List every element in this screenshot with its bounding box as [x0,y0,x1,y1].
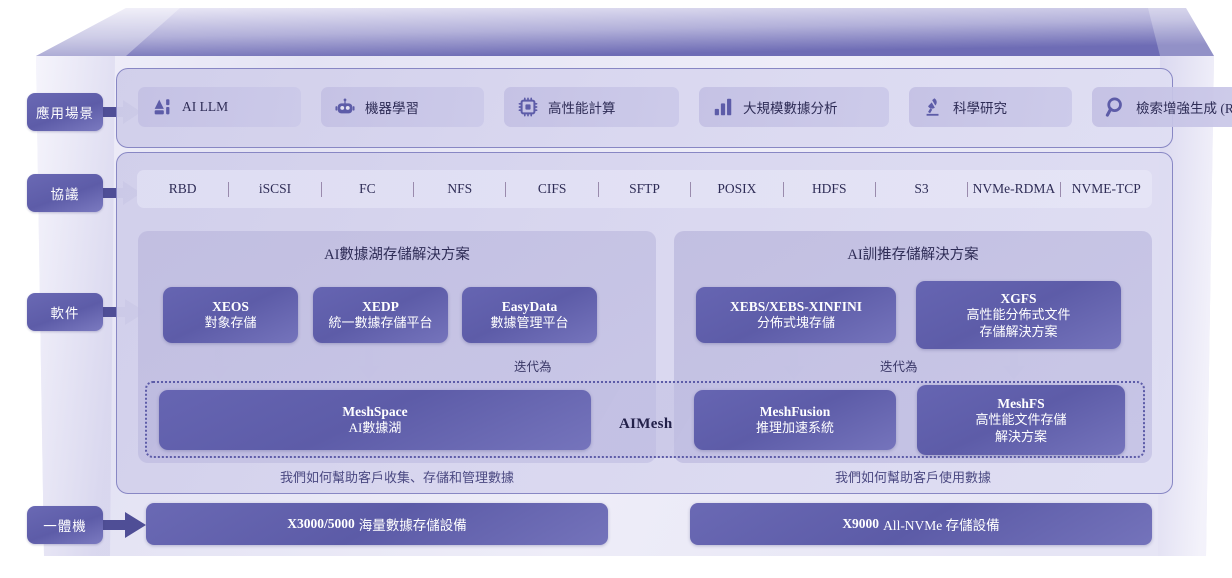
appliance-box-x3000[interactable]: X3000/5000 海量數據存儲設備 [146,503,608,545]
cpu-chip-icon [517,96,539,118]
scenario-label: 檢索增強生成 (RAG) [1136,97,1232,117]
iterate-label-left: 迭代為 [514,356,552,375]
product-name: MeshFusion [760,403,831,420]
scenario-label: AI LLM [182,99,228,115]
software-group-title: AI訓推存儲解決方案 [674,243,1152,264]
rail-item-scenarios[interactable]: 應用場景 [27,93,103,131]
architecture-diagram: 應用場景 協議 軟件 一體機 AI LLM [0,0,1232,578]
protocol-item: POSIX [691,181,782,197]
caption-right: 我們如何幫助客戶使用數據 [674,467,1152,486]
robot-icon [334,96,356,118]
scenario-chip-machine-learning[interactable]: 機器學習 [321,87,484,127]
rail-label-text: 應用場景 [36,102,94,122]
scenarios-panel: AI LLM 機器學習 [116,68,1173,148]
protocol-separator [783,182,784,197]
product-desc: 對象存儲 [204,315,256,332]
scenario-chip-scientific-research[interactable]: 科學研究 [909,87,1072,127]
product-desc: 分佈式塊存儲 [757,315,835,332]
protocol-item: NVMe-RDMA [968,181,1059,197]
rail-label-text: 軟件 [51,302,80,322]
rail-item-appliance[interactable]: 一體機 [27,506,103,544]
scenario-label: 科學研究 [953,97,1007,117]
protocol-item: RBD [137,181,228,197]
product-name: MeshSpace [342,403,407,420]
product-desc: 高性能文件存儲 解決方案 [975,412,1066,445]
magnifier-icon [1105,96,1127,118]
protocol-separator [690,182,691,197]
product-desc: 統一數據存儲平台 [328,315,432,332]
protocol-item: NVME-TCP [1061,181,1152,197]
protocol-separator [875,182,876,197]
platform-panel: RBD iSCSI FC NFS CIFS SFTP POSIX HDFS S3… [116,152,1173,494]
microscope-icon [922,96,944,118]
protocol-separator [598,182,599,197]
protocol-separator [321,182,322,197]
product-box-easydata[interactable]: EasyData 數據管理平台 [462,287,597,343]
protocol-item: CIFS [506,181,597,197]
scenario-label: 機器學習 [365,97,419,117]
scenario-chip-ai-llm[interactable]: AI LLM [138,87,301,127]
product-desc: AI數據湖 [349,420,402,437]
product-name: EasyData [502,298,558,315]
product-name: MeshFS [997,395,1044,412]
scenario-chip-hpc[interactable]: 高性能計算 [504,87,679,127]
product-name: XEOS [212,298,249,315]
product-name: XEDP [362,298,399,315]
aimesh-label: AIMesh [619,416,672,433]
bar-chart-icon [712,96,734,118]
product-desc: 推理加速系統 [756,420,834,437]
product-desc: 高性能分佈式文件 存儲解決方案 [966,307,1070,340]
rail-label-text: 一體機 [43,515,87,535]
protocol-item: HDFS [784,181,875,197]
appliance-desc: All-NVMe 存儲設備 [883,514,1000,534]
protocol-separator [967,182,968,197]
product-box-meshfs[interactable]: MeshFS 高性能文件存儲 解決方案 [917,385,1125,455]
product-box-meshfusion[interactable]: MeshFusion 推理加速系統 [694,390,896,450]
rail-label-text: 協議 [51,183,80,203]
appliance-code: X9000 [842,516,879,532]
protocol-separator [1060,182,1061,197]
caption-left: 我們如何幫助客戶收集、存儲和管理數據 [138,467,656,486]
appliance-desc: 海量數據存儲設備 [359,514,467,534]
protocol-item: FC [322,181,413,197]
software-group-title: AI數據湖存儲解決方案 [138,243,656,264]
protocol-separator [413,182,414,197]
protocol-item: iSCSI [229,181,320,197]
product-box-xeos[interactable]: XEOS 對象存儲 [163,287,298,343]
appliance-code: X3000/5000 [287,516,355,532]
product-box-xedp[interactable]: XEDP 統一數據存儲平台 [313,287,448,343]
product-name: XEBS/XEBS-XINFINI [730,298,862,315]
protocol-item: SFTP [599,181,690,197]
product-box-meshspace[interactable]: MeshSpace AI數據湖 [159,390,591,450]
protocol-separator [505,182,506,197]
product-box-xebs[interactable]: XEBS/XEBS-XINFINI 分佈式塊存儲 [696,287,896,343]
scenario-chip-big-data-analytics[interactable]: 大規模數據分析 [699,87,889,127]
protocol-item: S3 [876,181,967,197]
appliance-box-x9000[interactable]: X9000 All-NVMe 存儲設備 [690,503,1152,545]
scenario-label: 大規模數據分析 [743,97,838,117]
scenario-label: 高性能計算 [548,97,616,117]
protocol-separator [228,182,229,197]
protocol-strip: RBD iSCSI FC NFS CIFS SFTP POSIX HDFS S3… [137,170,1152,208]
protocol-item: NFS [414,181,505,197]
product-name: XGFS [1000,290,1036,307]
scenario-chip-rag[interactable]: 檢索增強生成 (RAG) [1092,87,1232,127]
iterate-label-right: 迭代為 [880,356,918,375]
ai-llm-icon [151,96,173,118]
rail-item-software[interactable]: 軟件 [27,293,103,331]
product-box-xgfs[interactable]: XGFS 高性能分佈式文件 存儲解決方案 [916,281,1121,349]
product-desc: 數據管理平台 [490,315,568,332]
rail-item-protocols[interactable]: 協議 [27,174,103,212]
